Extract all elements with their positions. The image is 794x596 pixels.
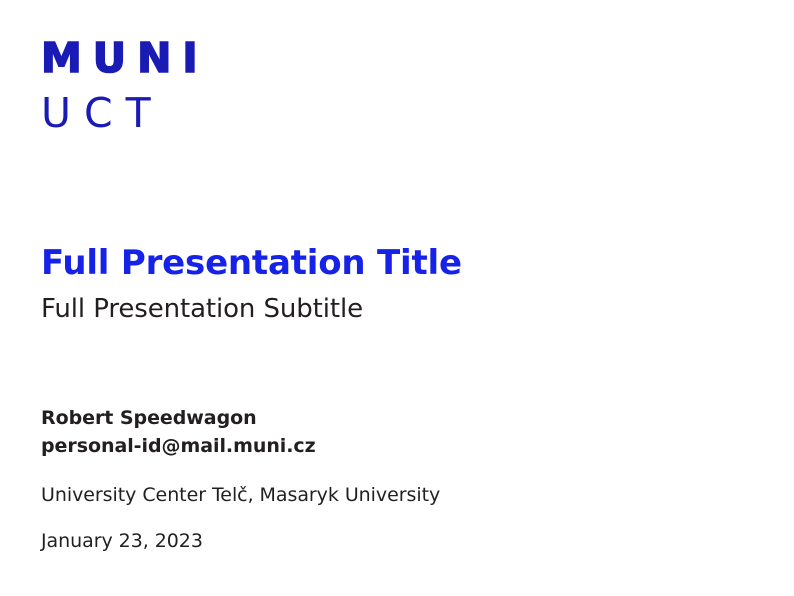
author-block: Robert Speedwagon personal-id@mail.muni.…: [41, 405, 741, 460]
title-block: Full Presentation Title Full Presentatio…: [41, 243, 741, 325]
presentation-title: Full Presentation Title: [41, 243, 741, 283]
presentation-title-slide: MUNI UCT Full Presentation Title Full Pr…: [0, 0, 794, 596]
presentation-subtitle: Full Presentation Subtitle: [41, 294, 741, 325]
logo-uct-wordmark: UCT: [41, 93, 209, 134]
author-email: personal-id@mail.muni.cz: [41, 433, 741, 461]
logo-muni-wordmark: MUNI: [41, 38, 209, 79]
presentation-date: January 23, 2023: [41, 529, 203, 554]
muni-uct-logo: MUNI UCT: [41, 38, 209, 134]
author-name: Robert Speedwagon: [41, 405, 741, 433]
author-affiliation: University Center Telč, Masaryk Universi…: [41, 483, 440, 508]
